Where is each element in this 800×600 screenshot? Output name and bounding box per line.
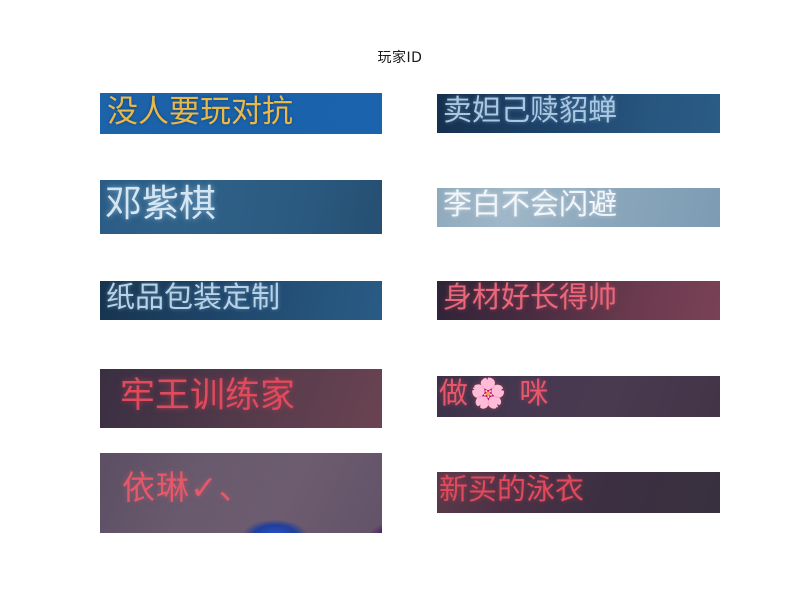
player-id-label: 没人要玩对抗 xyxy=(107,97,293,128)
player-id-plate[interactable]: 身材好长得帅 xyxy=(437,281,720,320)
player-id-plate[interactable]: 依琳✓、 xyxy=(100,453,382,533)
player-id-plate[interactable]: 没人要玩对抗 xyxy=(100,93,382,134)
player-id-label: 邓紫棋 xyxy=(105,185,216,222)
player-id-label: 做🌸 咪 xyxy=(439,379,550,408)
player-id-plate[interactable]: 邓紫棋 xyxy=(100,180,382,234)
player-id-plate[interactable]: 新买的泳衣 xyxy=(437,472,720,513)
player-id-plate[interactable]: 李白不会闪避 xyxy=(437,188,720,227)
player-id-plate[interactable]: 做🌸 咪 xyxy=(437,376,720,417)
player-id-plate[interactable]: 纸品包装定制 xyxy=(100,281,382,320)
player-id-label: 身材好长得帅 xyxy=(443,283,617,312)
player-id-plate[interactable]: 卖妲己赎貂蝉 xyxy=(437,94,720,133)
player-id-label: 卖妲己赎貂蝉 xyxy=(443,96,617,125)
player-id-label: 依琳✓、 xyxy=(122,471,253,504)
player-id-label: 纸品包装定制 xyxy=(106,283,280,312)
player-id-label: 李白不会闪避 xyxy=(443,190,617,219)
player-id-grid: 没人要玩对抗 卖妲己赎貂蝉 邓紫棋 李白不会闪避 纸品包装定制 身材好长得帅 牢… xyxy=(0,0,800,600)
player-id-label: 牢王训练家 xyxy=(120,379,295,414)
player-id-label: 新买的泳衣 xyxy=(439,475,584,504)
player-id-plate[interactable]: 牢王训练家 xyxy=(100,369,382,428)
